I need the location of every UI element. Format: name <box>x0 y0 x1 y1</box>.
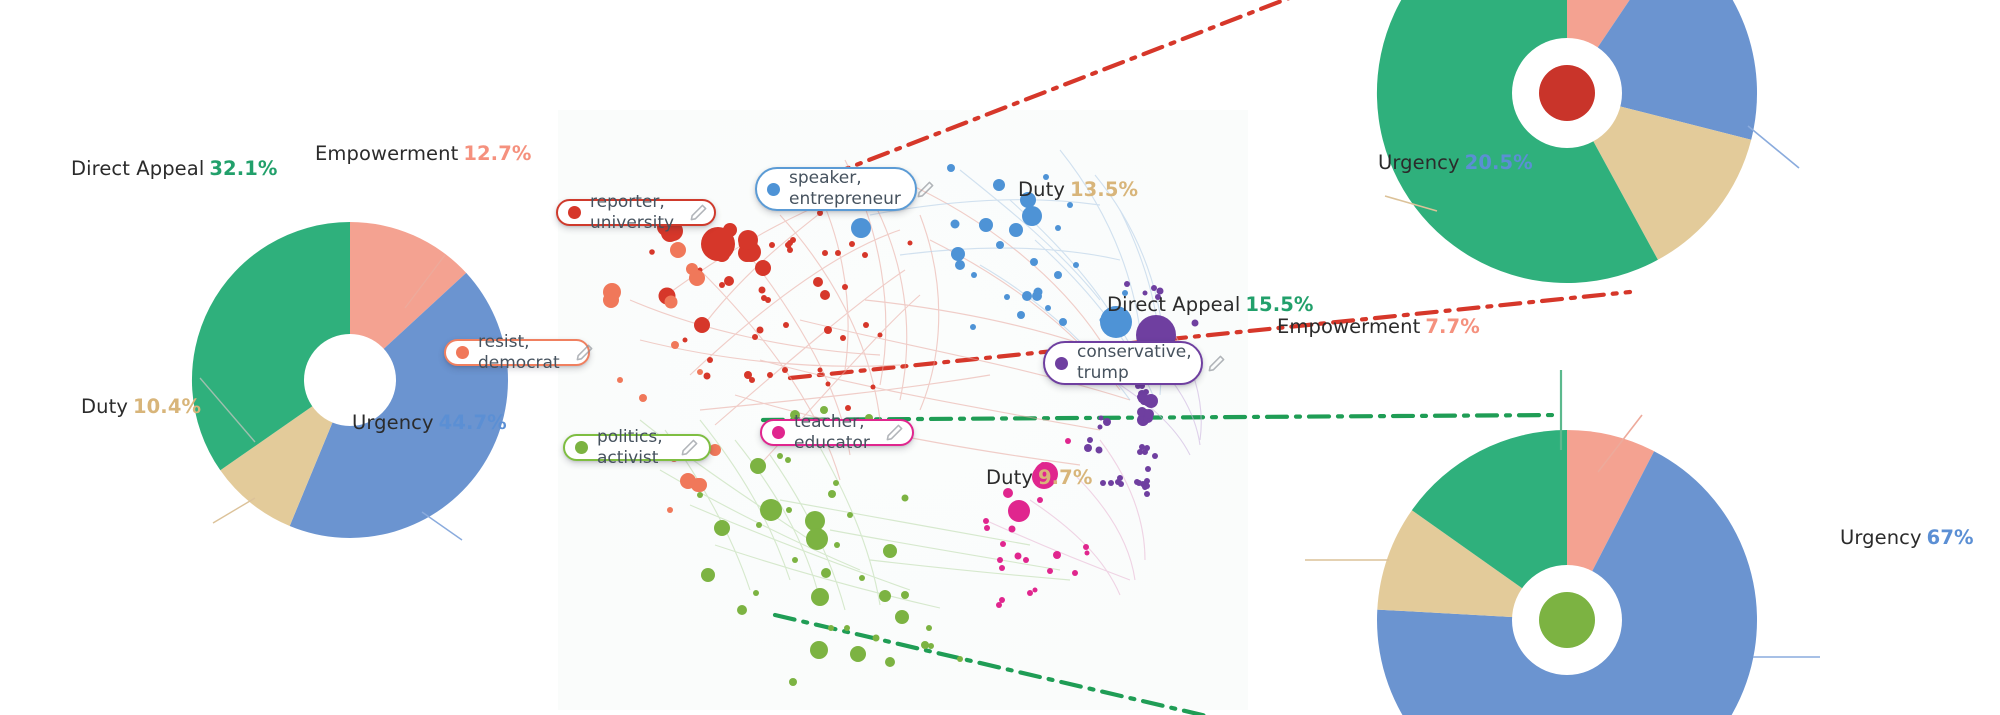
tr-leader-urgency <box>1748 126 1799 168</box>
cluster-chip-politics[interactable]: politics, activist <box>563 434 711 461</box>
pencil-icon[interactable] <box>1207 354 1226 373</box>
bottom-right-label-duty-value: 9.7% <box>1038 466 1092 489</box>
left-leader-urgency <box>422 512 462 540</box>
left-label-duty: Duty10.4% <box>81 395 201 418</box>
cluster-chip-reporter[interactable]: reporter, university <box>556 199 716 226</box>
top-right-label-urgency: Urgency20.5% <box>1378 151 1533 174</box>
top-right-label-duty-value: 13.5% <box>1070 178 1138 201</box>
bottom-right-label-direct-appeal-name: Direct Appeal <box>1107 293 1240 316</box>
bottom-right-label-empowerment: Empowerment7.7% <box>1277 315 1480 338</box>
left-label-direct-appeal-value: 32.1% <box>209 157 277 180</box>
top-right-label-duty-name: Duty <box>1018 178 1065 201</box>
cluster-label-resist: resist, democrat <box>478 332 560 373</box>
left-donut-chart <box>192 222 508 540</box>
left-label-empowerment: Empowerment12.7% <box>315 142 532 165</box>
top-right-donut-chart <box>1377 0 1799 283</box>
cluster-dot-conservative <box>1055 357 1068 370</box>
cluster-label-speaker: speaker, entrepreneur <box>789 168 901 209</box>
bottom-right-label-urgency: Urgency67% <box>1840 526 1974 549</box>
left-leader-duty <box>213 498 255 523</box>
bottom-right-label-duty-name: Duty <box>986 466 1033 489</box>
pencil-icon[interactable] <box>885 423 904 442</box>
left-label-empowerment-value: 12.7% <box>463 142 531 165</box>
cluster-chip-conservative[interactable]: conservative, trump <box>1043 341 1203 385</box>
cluster-label-teacher: teacher, educator <box>794 412 870 453</box>
cluster-chip-resist[interactable]: resist, democrat <box>444 339 590 366</box>
bottom-right-label-empowerment-name: Empowerment <box>1277 315 1420 338</box>
bottom-right-label-direct-appeal: Direct Appeal15.5% <box>1107 293 1314 316</box>
pencil-icon[interactable] <box>689 203 708 222</box>
cluster-dot-resist <box>456 346 469 359</box>
graphics-layer <box>0 0 2000 715</box>
cluster-label-politics: politics, activist <box>597 427 665 468</box>
cluster-dot-politics <box>575 441 588 454</box>
pencil-icon[interactable] <box>575 343 594 362</box>
bottom-right-donut-chart <box>1305 370 1820 715</box>
left-label-direct-appeal: Direct Appeal32.1% <box>71 157 278 180</box>
cluster-chip-speaker[interactable]: speaker, entrepreneur <box>755 167 917 211</box>
top-right-label-duty: Duty13.5% <box>1018 178 1138 201</box>
cluster-dot-speaker <box>767 183 780 196</box>
left-label-empowerment-name: Empowerment <box>315 142 458 165</box>
bottom-right-label-urgency-name: Urgency <box>1840 526 1922 549</box>
bottom-right-center-marker <box>1539 592 1595 648</box>
top-right-center-marker <box>1539 65 1595 121</box>
cluster-label-conservative: conservative, trump <box>1077 342 1192 383</box>
top-right-label-urgency-name: Urgency <box>1378 151 1460 174</box>
left-label-urgency-value: 44.7% <box>439 411 507 434</box>
bottom-right-label-empowerment-value: 7.7% <box>1425 315 1479 338</box>
bottom-right-label-urgency-value: 67% <box>1927 526 1974 549</box>
cluster-chip-teacher[interactable]: teacher, educator <box>760 419 914 446</box>
bottom-right-label-duty: Duty9.7% <box>986 466 1092 489</box>
left-label-urgency-name: Urgency <box>352 411 434 434</box>
left-label-duty-name: Duty <box>81 395 128 418</box>
left-label-direct-appeal-name: Direct Appeal <box>71 157 204 180</box>
left-label-urgency: Urgency44.7% <box>352 411 507 434</box>
cluster-label-reporter: reporter, university <box>590 192 674 233</box>
canvas: Direct Appeal32.1% Empowerment12.7% Urge… <box>0 0 2000 715</box>
left-label-duty-value: 10.4% <box>133 395 201 418</box>
top-right-label-urgency-value: 20.5% <box>1465 151 1533 174</box>
cluster-dot-teacher <box>772 426 785 439</box>
pencil-icon[interactable] <box>916 180 935 199</box>
bottom-right-label-direct-appeal-value: 15.5% <box>1245 293 1313 316</box>
cluster-dot-reporter <box>568 206 581 219</box>
pencil-icon[interactable] <box>680 438 699 457</box>
